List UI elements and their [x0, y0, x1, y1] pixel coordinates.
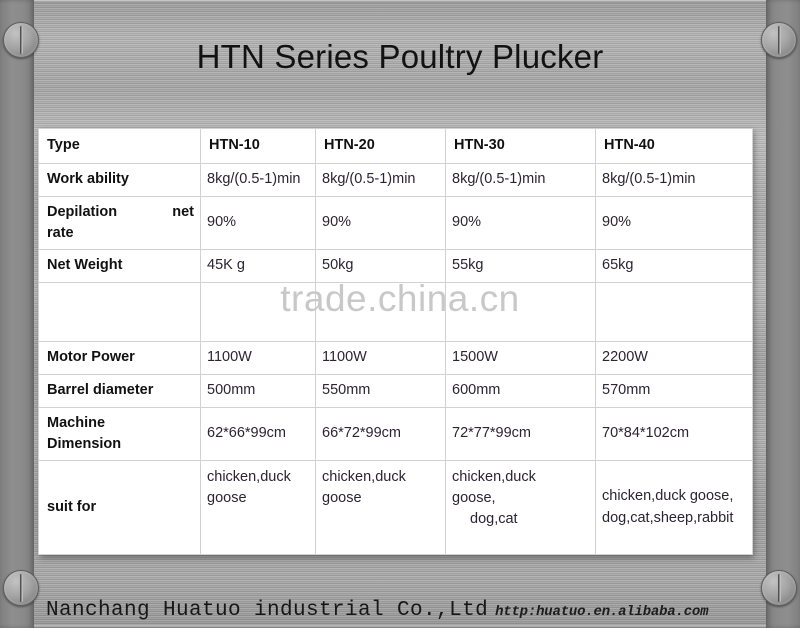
cell-machine-dimension-4: 70*84*102cm: [596, 408, 753, 461]
row-label-depilation-line1: Depilation net: [47, 202, 194, 223]
cell-suit-for-1-line2: goose: [207, 490, 247, 506]
panel-seam-top: [34, 0, 766, 3]
cell-depilation-1: 90%: [201, 197, 316, 250]
table-row: Work ability 8kg/(0.5-1)min 8kg/(0.5-1)m…: [39, 164, 753, 197]
cell-depilation-3: 90%: [446, 197, 596, 250]
cell-motor-power-1: 1100W: [201, 342, 316, 375]
cell-depilation-4: 90%: [596, 197, 753, 250]
cell-motor-power-4: 2200W: [596, 342, 753, 375]
row-label-barrel-diameter: Barrel diameter: [39, 375, 201, 408]
specification-table-container: Type HTN-10 HTN-20 HTN-30 HTN-40 Work ab…: [38, 128, 752, 555]
footer-website-url[interactable]: http:huatuo.en.alibaba.com: [495, 604, 708, 620]
cell-type-htn30: HTN-30: [446, 129, 596, 164]
frame-rail-right: [766, 0, 800, 628]
cell-blank-3: [446, 283, 596, 342]
cell-suit-for-1: chicken,duck goose: [201, 461, 316, 555]
cell-blank-1: [201, 283, 316, 342]
product-spec-banner: HTN Series Poultry Plucker Type HTN-10 H…: [0, 0, 800, 628]
row-label-depilation-net-rate: Depilation net rate: [39, 197, 201, 250]
cell-blank-label: [39, 283, 201, 342]
screw-icon-bottom-left: [3, 570, 39, 606]
cell-machine-dimension-1: 62*66*99cm: [201, 408, 316, 461]
cell-suit-for-1-line1: chicken,duck: [207, 469, 291, 485]
table-row: Machine Dimension 62*66*99cm 66*72*99cm …: [39, 408, 753, 461]
cell-suit-for-4: chicken,duck goose, dog,cat,sheep,rabbit: [596, 461, 753, 555]
row-label-motor-power: Motor Power: [39, 342, 201, 375]
row-label-type: Type: [39, 129, 201, 164]
row-label-suit-for: suit for: [39, 461, 201, 555]
table-row: Depilation net rate 90% 90% 90% 90%: [39, 197, 753, 250]
cell-suit-for-2-line2: goose: [322, 490, 362, 506]
cell-machine-dimension-2: 66*72*99cm: [316, 408, 446, 461]
cell-depilation-2: 90%: [316, 197, 446, 250]
cell-suit-for-3: chicken,duck goose, dog,cat: [446, 461, 596, 555]
cell-type-htn10: HTN-10: [201, 129, 316, 164]
footer: Nanchang Huatuo industrial Co.,Ltd http:…: [46, 599, 708, 622]
cell-net-weight-1: 45K g: [201, 250, 316, 283]
row-label-net-weight: Net Weight: [39, 250, 201, 283]
cell-suit-for-4-line1: chicken,duck goose,: [602, 488, 733, 504]
footer-company-name: Nanchang Huatuo industrial Co.,Ltd: [46, 599, 488, 622]
cell-suit-for-3-line2: goose,: [452, 490, 496, 506]
cell-work-ability-3: 8kg/(0.5-1)min: [446, 164, 596, 197]
cell-suit-for-3-line3: dog,cat: [452, 509, 518, 530]
cell-work-ability-4: 8kg/(0.5-1)min: [596, 164, 753, 197]
cell-barrel-diameter-3: 600mm: [446, 375, 596, 408]
cell-barrel-diameter-1: 500mm: [201, 375, 316, 408]
row-label-work-ability: Work ability: [39, 164, 201, 197]
specification-table: Type HTN-10 HTN-20 HTN-30 HTN-40 Work ab…: [38, 128, 753, 555]
table-row: Motor Power 1100W 1100W 1500W 2200W: [39, 342, 753, 375]
cell-motor-power-3: 1500W: [446, 342, 596, 375]
cell-barrel-diameter-4: 570mm: [596, 375, 753, 408]
cell-blank-2: [316, 283, 446, 342]
frame-rail-left: [0, 0, 34, 628]
screw-icon-top-left: [3, 22, 39, 58]
cell-work-ability-1: 8kg/(0.5-1)min: [201, 164, 316, 197]
table-row-blank: [39, 283, 753, 342]
screw-icon-bottom-right: [761, 570, 797, 606]
cell-barrel-diameter-2: 550mm: [316, 375, 446, 408]
cell-net-weight-2: 50kg: [316, 250, 446, 283]
cell-blank-4: [596, 283, 753, 342]
table-row: Barrel diameter 500mm 550mm 600mm 570mm: [39, 375, 753, 408]
cell-type-htn40: HTN-40: [596, 129, 753, 164]
cell-machine-dimension-3: 72*77*99cm: [446, 408, 596, 461]
page-title: HTN Series Poultry Plucker: [40, 38, 760, 76]
row-label-machine-dimension: Machine Dimension: [39, 408, 201, 461]
table-row: suit for chicken,duck goose chicken,duck…: [39, 461, 753, 555]
cell-suit-for-3-line1: chicken,duck: [452, 469, 536, 485]
table-row: Type HTN-10 HTN-20 HTN-30 HTN-40: [39, 129, 753, 164]
table-row: Net Weight 45K g 50kg 55kg 65kg: [39, 250, 753, 283]
cell-work-ability-2: 8kg/(0.5-1)min: [316, 164, 446, 197]
cell-suit-for-4-line2: dog,cat,sheep,rabbit: [602, 510, 733, 526]
row-label-machine-line2: Dimension: [47, 436, 121, 452]
row-label-machine-line1: Machine: [47, 415, 105, 431]
cell-suit-for-2-line1: chicken,duck: [322, 469, 406, 485]
cell-type-htn20: HTN-20: [316, 129, 446, 164]
screw-icon-top-right: [761, 22, 797, 58]
cell-net-weight-4: 65kg: [596, 250, 753, 283]
cell-suit-for-2: chicken,duck goose: [316, 461, 446, 555]
row-label-depilation-line2: rate: [47, 223, 194, 244]
cell-net-weight-3: 55kg: [446, 250, 596, 283]
cell-motor-power-2: 1100W: [316, 342, 446, 375]
